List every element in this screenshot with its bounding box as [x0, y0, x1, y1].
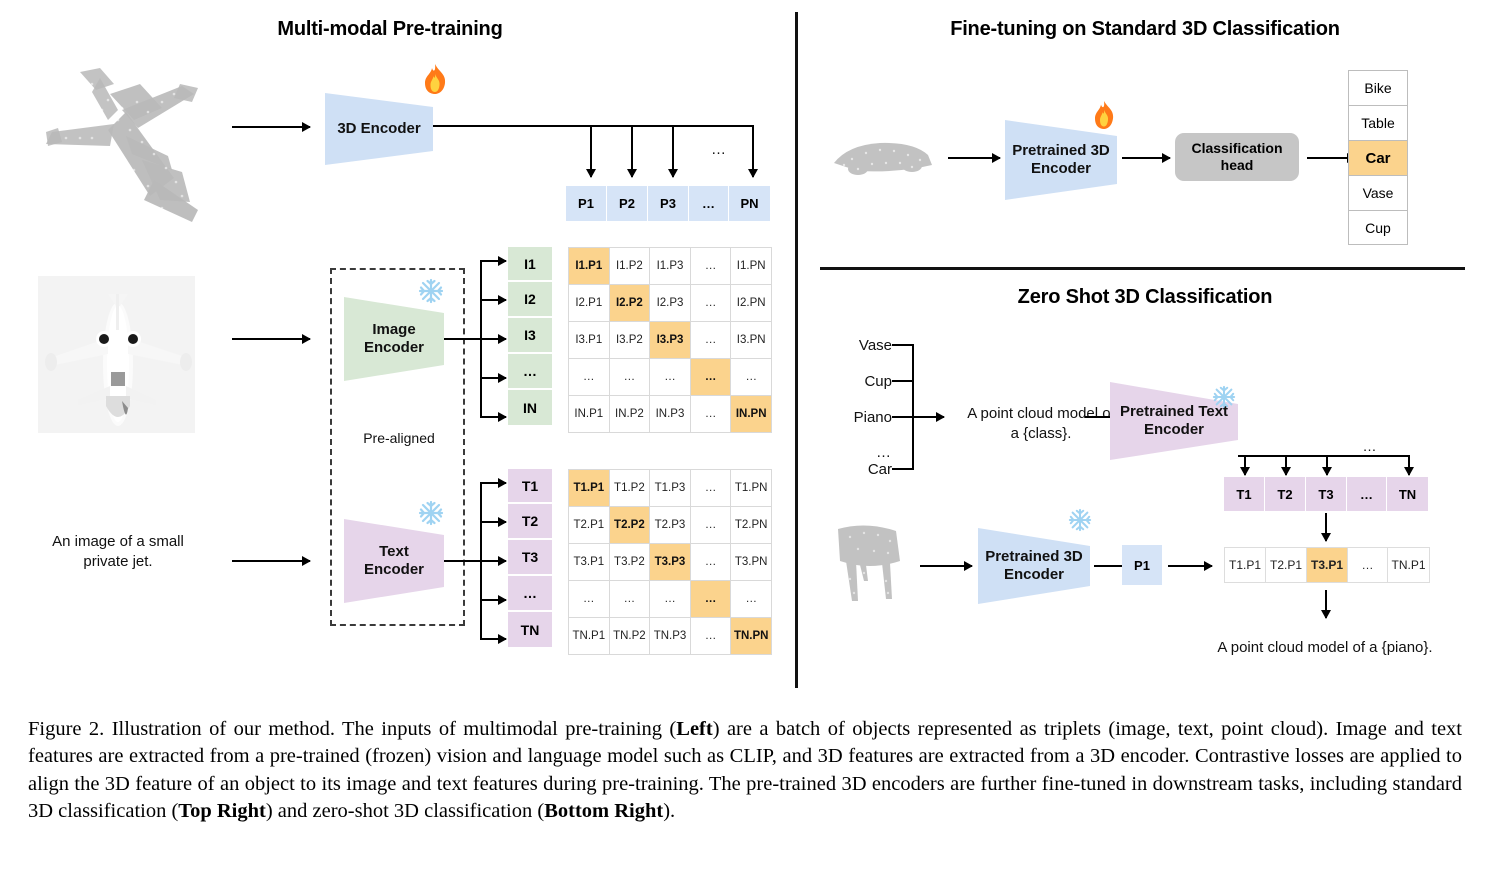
token-p3: P3 — [648, 186, 689, 221]
image-matrix-cell-1-4: I2.PN — [731, 285, 771, 321]
arrow-encoder-to-head — [1122, 157, 1170, 159]
image-matrix-cell-2-1: I3.P2 — [610, 322, 650, 358]
image-encoder-line1: Image — [372, 321, 415, 338]
bus-line-p — [433, 125, 753, 127]
text-matrix-cell-3-0: … — [569, 581, 609, 617]
text-matrix-cell-4-2: TN.P3 — [650, 618, 690, 654]
image-matrix-cell-0-3: … — [691, 248, 731, 284]
image-matrix-cell-2-3: … — [691, 322, 731, 358]
text-encoder-out-line — [444, 560, 482, 562]
image-matrix-cell-3-1: … — [610, 359, 650, 395]
image-point-similarity-matrix: I1.P1I1.P2I1.P3…I1.PNI2.P1I2.P2I2.P3…I2.… — [568, 247, 772, 433]
encoder-line1: Pretrained 3D — [1012, 142, 1110, 159]
text-matrix-cell-1-1: T2.P2 — [610, 507, 650, 543]
snowflake-icon — [418, 278, 444, 304]
point-cloud-airplane — [22, 50, 232, 225]
figure-canvas: Multi-modal Pre-training Fine-tuning on … — [0, 0, 1490, 700]
text-matrix-cell-0-2: T1.P3 — [650, 470, 690, 506]
zs-score-tnp1: TN.P1 — [1388, 548, 1429, 582]
arrow-to-p1 — [590, 125, 592, 177]
caption-bold-bottom-right: Bottom Right — [544, 800, 663, 822]
text-matrix-cell-3-3: … — [691, 581, 731, 617]
text-token-column: T1 T2 T3 … TN — [508, 469, 552, 655]
zs-score-t3p1: T3.P1 — [1307, 548, 1348, 582]
text-matrix-cell-4-4: TN.PN — [731, 618, 771, 654]
zs-token-t1: T1 — [1224, 477, 1265, 511]
zs-score-ellipsis: … — [1348, 548, 1388, 582]
text-matrix-cell-0-4: T1.PN — [731, 470, 771, 506]
pretrained-3d-encoder-block-zs: Pretrained 3D Encoder — [978, 528, 1090, 604]
zs-token-t3: T3 — [1306, 477, 1347, 511]
figure-caption: Figure 2. Illustration of our method. Th… — [28, 716, 1462, 825]
text-matrix-cell-1-3: … — [691, 507, 731, 543]
arrow-pointcloud-to-3d-encoder — [232, 126, 310, 128]
prompt-template: A point cloud model of a {class}. — [948, 404, 1134, 443]
image-matrix-cell-3-4: … — [731, 359, 771, 395]
zs-score-row: T1.P1 T2.P1 T3.P1 … TN.P1 — [1224, 547, 1430, 583]
class-item-bike[interactable]: Bike — [1349, 71, 1407, 106]
zs-point-token: P1 — [1122, 545, 1162, 585]
arrow-to-t-ellipsis — [480, 599, 506, 601]
text-matrix-cell-2-4: T3.PN — [731, 544, 771, 580]
caption-bold-top-right: Top Right — [178, 800, 266, 822]
token-t1: T1 — [508, 469, 552, 504]
panel-title-bottom-right: Zero Shot 3D Classification — [830, 286, 1460, 309]
pretrained-text-encoder-label: Pretrained Text Encoder — [1120, 403, 1228, 438]
zs-bus-line — [1238, 455, 1410, 457]
image-matrix-cell-1-3: … — [691, 285, 731, 321]
image-encoder-out-line — [444, 338, 482, 340]
text-encoder-line2: Encoder — [364, 561, 424, 578]
classification-head-block: Classification head — [1175, 133, 1299, 181]
text-encoder-line2: Encoder — [1144, 421, 1204, 438]
text-input-line2: private jet. — [83, 553, 152, 570]
point-cloud-piano — [830, 519, 914, 609]
text-point-similarity-matrix: T1.P1T1.P2T1.P3…T1.PNT2.P1T2.P2T2.P3…T2.… — [568, 469, 772, 655]
image-matrix-cell-2-4: I3.PN — [731, 322, 771, 358]
snowflake-icon — [1068, 508, 1092, 532]
image-matrix-cell-2-0: I3.P1 — [569, 322, 609, 358]
token-p1: P1 — [566, 186, 607, 221]
zs-token-p1: P1 — [1122, 545, 1162, 585]
zs-class-cup: Cup — [822, 372, 892, 392]
arrow-p1-to-scores — [1168, 565, 1212, 567]
jet-render-image — [38, 276, 195, 433]
caption-seg2: ) and zero-shot 3D classification ( — [266, 800, 544, 822]
point-cloud-car — [828, 133, 938, 181]
token-p2: P2 — [607, 186, 648, 221]
point-token-strip: P1 P2 P3 … PN — [566, 186, 770, 221]
arrow-zs-to-t1 — [1244, 455, 1246, 475]
vertical-divider — [795, 12, 798, 688]
text-matrix-cell-0-3: … — [691, 470, 731, 506]
pretrained-3d-encoder-block-ft: Pretrained 3D Encoder — [1005, 120, 1117, 200]
image-encoder-block: Image Encoder — [344, 297, 444, 381]
p-bus-ellipsis: … — [697, 140, 741, 160]
text-matrix-cell-1-2: T2.P3 — [650, 507, 690, 543]
text-matrix-cell-2-3: … — [691, 544, 731, 580]
arrow-zs-to-t2 — [1285, 455, 1287, 475]
text-matrix-cell-4-1: TN.P2 — [610, 618, 650, 654]
arrow-to-i1 — [480, 260, 506, 262]
image-matrix-cell-3-2: … — [650, 359, 690, 395]
arrow-to-i2 — [480, 299, 506, 301]
image-encoder-label: Image Encoder — [364, 321, 424, 356]
arrow-to-t1 — [480, 482, 506, 484]
arrow-to-tn — [480, 638, 506, 640]
image-matrix-cell-4-2: IN.P3 — [650, 396, 690, 432]
horizontal-divider — [820, 267, 1465, 270]
image-matrix-cell-4-4: IN.PN — [731, 396, 771, 432]
image-matrix-cell-4-1: IN.P2 — [610, 396, 650, 432]
text-encoder-label: Text Encoder — [364, 543, 424, 578]
pretrained-3d-encoder-label-ft: Pretrained 3D Encoder — [1012, 142, 1110, 177]
arrow-scores-to-result — [1325, 590, 1327, 618]
zs-bus-ellipsis: … — [1348, 437, 1392, 455]
encoder-line1: Pretrained 3D — [985, 548, 1083, 565]
classification-head-line2: head — [1221, 157, 1254, 173]
encoder-line2: Encoder — [1031, 160, 1091, 177]
token-pn: PN — [729, 186, 770, 221]
zs-text-token-strip: T1 T2 T3 … TN — [1224, 477, 1428, 511]
arrow-zs-to-t3 — [1326, 455, 1328, 475]
arrow-to-i3 — [480, 338, 506, 340]
token-i3: I3 — [508, 318, 552, 354]
caption-bold-left: Left — [676, 718, 712, 740]
text-input-line1: An image of a small — [52, 533, 184, 550]
caption-prefix: Figure 2. Illustration of our method. Th… — [28, 718, 676, 740]
text-matrix-cell-0-0: T1.P1 — [569, 470, 609, 506]
arrow-to-p2 — [631, 125, 633, 177]
arrow-to-in — [480, 416, 506, 418]
text-matrix-cell-2-0: T3.P1 — [569, 544, 609, 580]
image-matrix-cell-1-0: I2.P1 — [569, 285, 609, 321]
image-matrix-cell-2-2: I3.P3 — [650, 322, 690, 358]
zs-token-t-ellipsis: … — [1347, 477, 1387, 511]
arrow-car-to-encoder — [948, 157, 1000, 159]
zs-score-t2p1: T2.P1 — [1266, 548, 1307, 582]
image-matrix-cell-0-2: I1.P3 — [650, 248, 690, 284]
image-matrix-cell-1-1: I2.P2 — [610, 285, 650, 321]
zs-class-vase: Vase — [822, 336, 892, 356]
class-item-table[interactable]: Table — [1349, 106, 1407, 141]
image-matrix-cell-3-0: … — [569, 359, 609, 395]
prealigned-label: Pre-aligned — [344, 430, 454, 446]
arrow-to-t3 — [480, 560, 506, 562]
text-encoder-line1: Pretrained Text — [1120, 403, 1228, 420]
token-t3: T3 — [508, 540, 552, 576]
text-encoder-block: Text Encoder — [344, 519, 444, 603]
text-matrix-cell-3-2: … — [650, 581, 690, 617]
class-prediction-list: Bike Table Car Vase Cup — [1348, 70, 1408, 245]
image-matrix-cell-0-1: I1.P2 — [610, 248, 650, 284]
panel-title-top-right: Fine-tuning on Standard 3D Classificatio… — [830, 18, 1460, 41]
token-t2: T2 — [508, 504, 552, 540]
zs-class-car: Car — [822, 460, 892, 480]
bracket-cup-stub — [892, 380, 914, 382]
class-item-car[interactable]: Car — [1349, 141, 1407, 176]
zs-score-t1p1: T1.P1 — [1225, 548, 1266, 582]
image-matrix-cell-3-3: … — [691, 359, 731, 395]
pretrained-3d-encoder-label-zs: Pretrained 3D Encoder — [985, 548, 1083, 583]
token-p-ellipsis: … — [689, 186, 729, 221]
jet-render-svg — [38, 276, 195, 433]
arrow-zs-to-tn — [1408, 455, 1410, 475]
image-token-column: I1 I2 I3 … IN — [508, 247, 552, 433]
flame-icon — [420, 62, 450, 96]
encoder-line2: Encoder — [1004, 566, 1064, 583]
text-matrix-cell-3-4: … — [731, 581, 771, 617]
token-in: IN — [508, 390, 552, 425]
token-i2: I2 — [508, 282, 552, 318]
text-matrix-cell-4-3: … — [691, 618, 731, 654]
token-tn: TN — [508, 612, 552, 647]
encoder-3d-block: 3D Encoder — [325, 93, 433, 165]
image-matrix-cell-4-3: … — [691, 396, 731, 432]
text-matrix-cell-4-0: TN.P1 — [569, 618, 609, 654]
image-matrix-cell-0-0: I1.P1 — [569, 248, 609, 284]
text-matrix-cell-0-1: T1.P2 — [610, 470, 650, 506]
panel-title-left: Multi-modal Pre-training — [90, 18, 690, 41]
text-encoder-line1: Text — [379, 543, 409, 560]
image-encoder-line2: Encoder — [364, 339, 424, 356]
text-matrix-cell-3-1: … — [610, 581, 650, 617]
arrow-to-p3 — [672, 125, 674, 177]
arrow-to-pn — [752, 125, 754, 177]
arrow-text-to-text-encoder — [232, 560, 310, 562]
arrow-image-to-image-encoder — [232, 338, 310, 340]
text-matrix-cell-2-2: T3.P3 — [650, 544, 690, 580]
arrow-classes-to-prompt — [892, 416, 944, 418]
text-matrix-cell-2-1: T3.P2 — [610, 544, 650, 580]
caption-seg3: ). — [663, 800, 675, 822]
image-matrix-cell-1-2: I2.P3 — [650, 285, 690, 321]
text-input-caption: An image of a small private jet. — [30, 532, 206, 571]
classification-head-line1: Classification — [1191, 140, 1282, 156]
prompt-line2: a {class}. — [1011, 425, 1072, 442]
bracket-top-stub — [892, 344, 914, 346]
text-matrix-cell-1-4: T2.PN — [731, 507, 771, 543]
image-matrix-cell-4-0: IN.P1 — [569, 396, 609, 432]
token-i1: I1 — [508, 247, 552, 282]
prompt-line1: A point cloud model of — [967, 405, 1115, 422]
zs-result-text: A point cloud model of a {piano}. — [1180, 638, 1470, 658]
image-matrix-cell-0-4: I1.PN — [731, 248, 771, 284]
bracket-spine — [912, 344, 914, 470]
bracket-bottom-stub — [892, 468, 914, 470]
encoder-3d-label: 3D Encoder — [337, 120, 420, 138]
zs-token-tn: TN — [1387, 477, 1428, 511]
token-t-ellipsis: … — [508, 576, 552, 612]
arrow-to-i-ellipsis — [480, 377, 506, 379]
arrow-tokens-to-scores — [1325, 513, 1327, 541]
class-item-cup[interactable]: Cup — [1349, 211, 1407, 245]
snowflake-icon — [418, 500, 444, 526]
zs-class-piano: Piano — [822, 408, 892, 428]
flame-icon — [1090, 99, 1118, 131]
arrow-to-t2 — [480, 521, 506, 523]
text-matrix-cell-1-0: T2.P1 — [569, 507, 609, 543]
arrow-piano-to-encoder — [920, 565, 972, 567]
class-item-vase[interactable]: Vase — [1349, 176, 1407, 211]
token-i-ellipsis: … — [508, 354, 552, 390]
zs-token-t2: T2 — [1265, 477, 1306, 511]
